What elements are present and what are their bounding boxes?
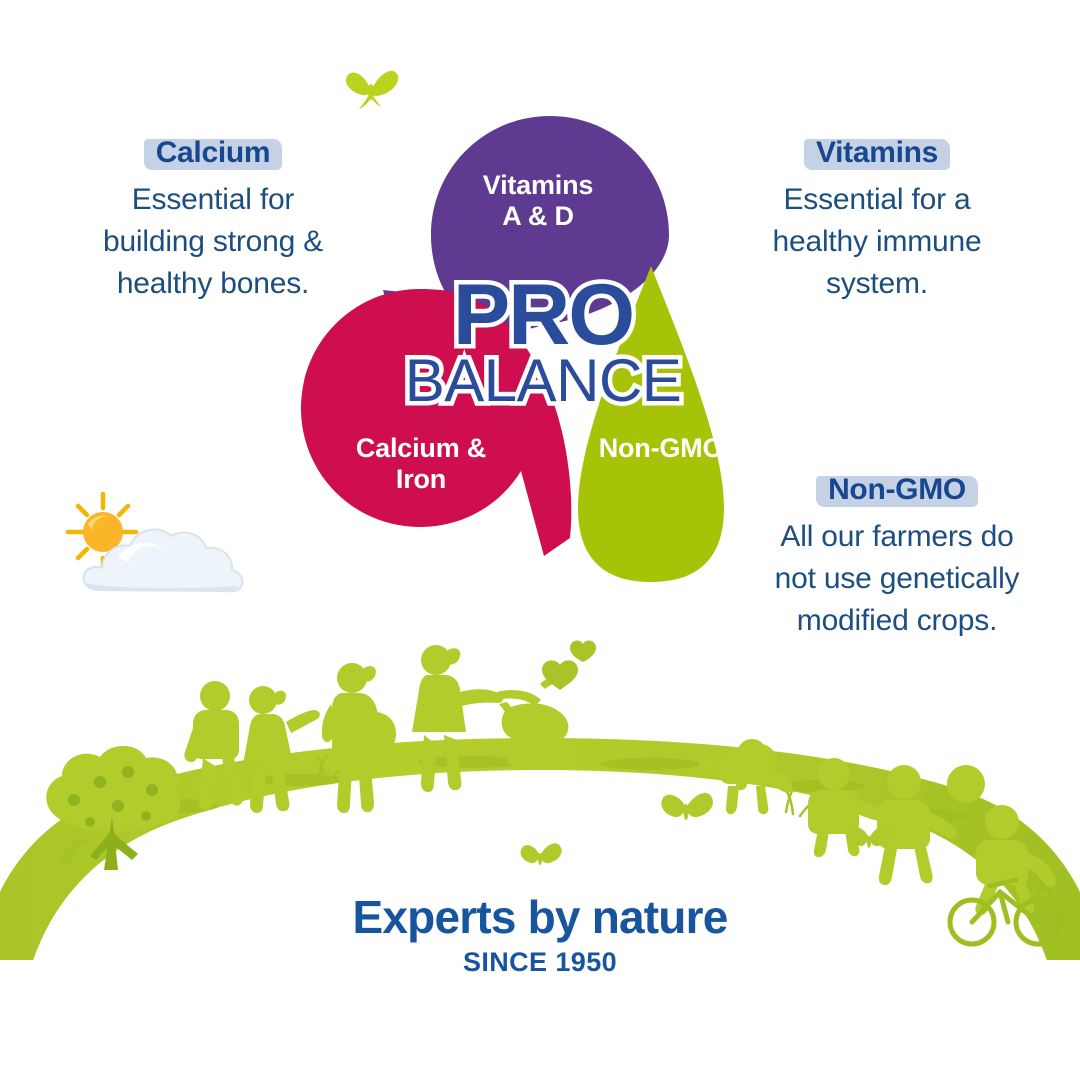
feature-vitamins-heading: Vitamins [804,135,950,172]
feature-non-gmo-heading-text: Non-GMO [828,473,966,506]
sun-cloud-icon [58,486,258,616]
feature-calcium-body-line-1: Essential for [132,183,294,216]
feature-non-gmo-body-line-2: not use genetically [775,562,1020,595]
feature-non-gmo-heading: Non-GMO [816,472,978,509]
drop-label-non-gmo: Non-GMO [556,433,766,464]
drop-calcium-iron [301,289,571,556]
feature-vitamins-body-line-1: Essential for a [783,183,970,216]
tagline-since: SINCE 1950 [0,947,1080,978]
tagline-block: Experts by nature SINCE 1950 [0,893,1080,978]
feature-vitamins-body-line-3: system. [826,267,928,300]
infographic-poster: Calcium Essential for building strong & … [0,0,1080,1080]
hearts-icon [542,641,596,690]
drop-label-vitamins: Vitamins A & D [443,170,633,233]
feature-calcium-heading-text: Calcium [156,136,271,169]
ball-icon [947,765,985,803]
pro-balance-logo: Vitamins A & D Calcium & Iron Non-GMO PR… [288,108,798,588]
drop-label-calcium-iron: Calcium & Iron [316,433,526,496]
feature-non-gmo-body-line-1: All our farmers do [780,520,1013,553]
drop-label-vitamins-line-2: A & D [502,201,574,231]
feature-vitamins-body-line-2: healthy immune [773,225,982,258]
drop-label-non-gmo-line-1: Non-GMO [599,433,724,463]
drop-non-gmo [578,266,724,582]
feature-calcium-heading: Calcium [144,135,283,172]
drop-label-vitamins-line-1: Vitamins [483,170,593,200]
tagline-main: Experts by nature [0,893,1080,941]
drop-label-calcium-iron-line-1: Calcium & [356,433,486,463]
feature-calcium-body-line-3: healthy bones. [117,267,309,300]
drop-label-calcium-iron-line-2: Iron [396,464,446,494]
feature-vitamins-heading-text: Vitamins [816,136,938,169]
